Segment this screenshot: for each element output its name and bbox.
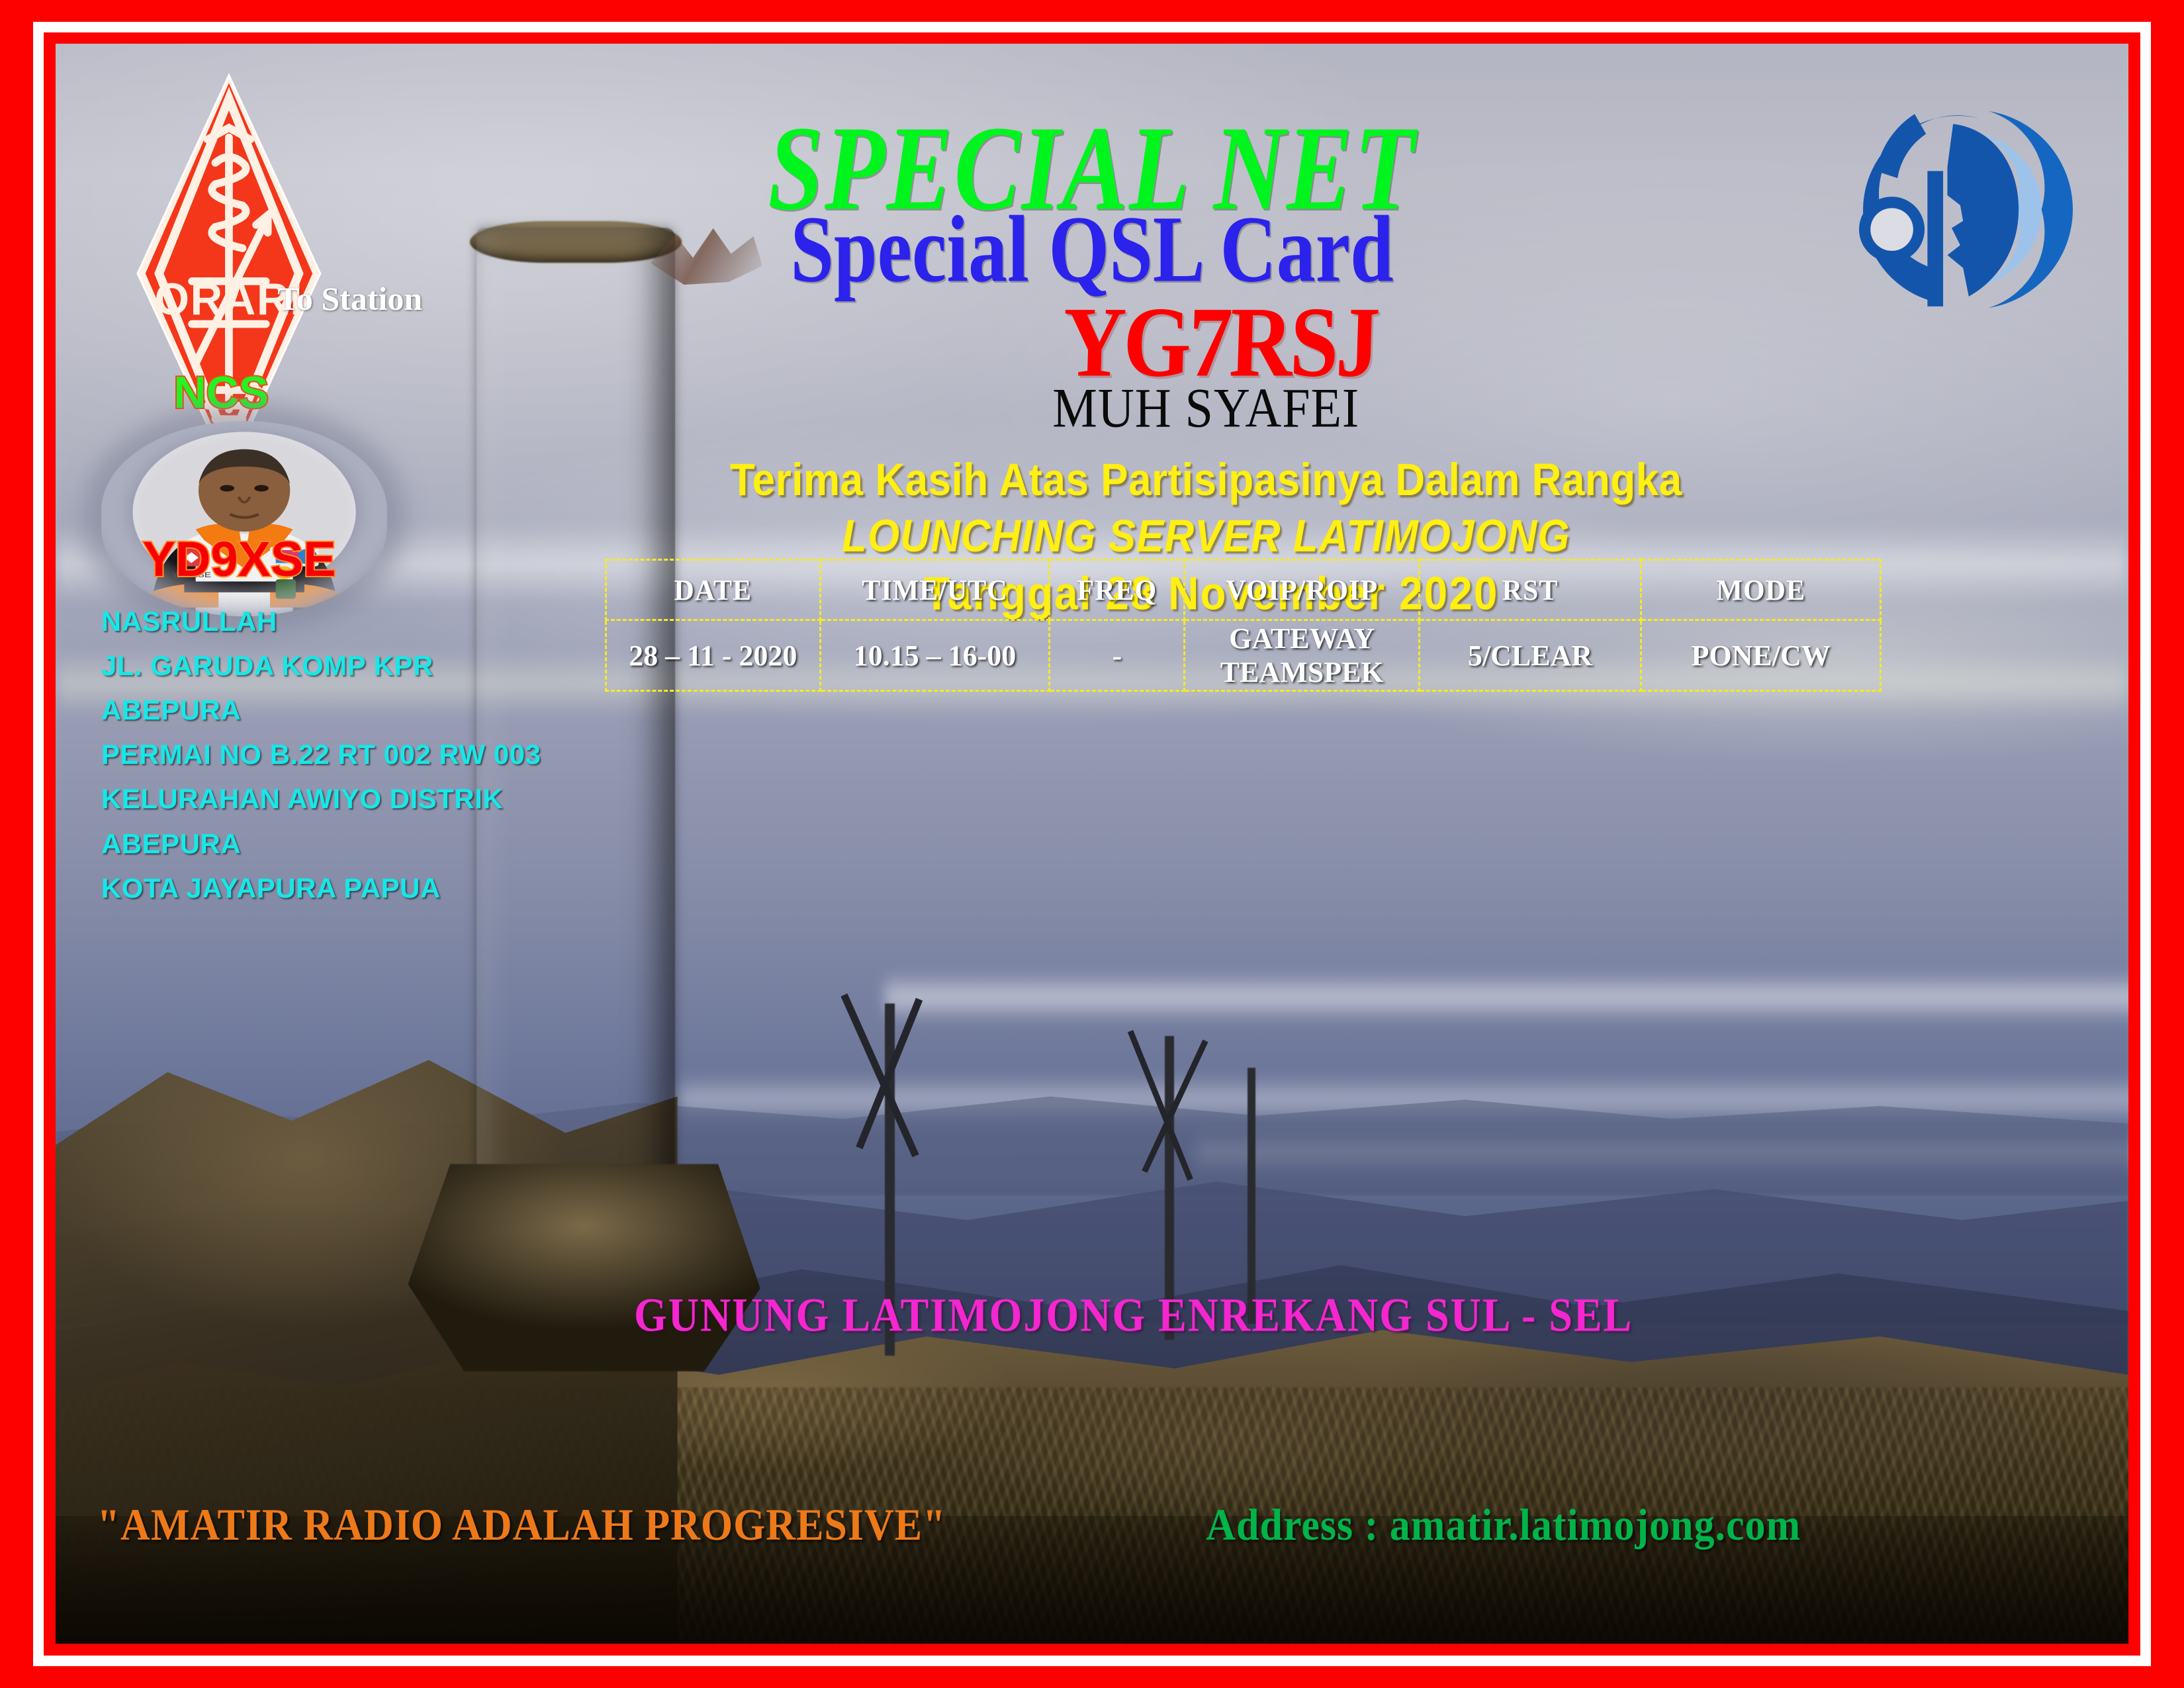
cell-freq: - bbox=[1050, 620, 1185, 691]
qso-details-table: DATE TIME/UTC FREQ VOIP/ROIP RST MODE 28… bbox=[605, 559, 1882, 692]
station-address-block: NASRULLAH JL. GARUDA KOMP KPR ABEPURA PE… bbox=[101, 599, 541, 910]
column-header-voip-roip: VOIP/ROIP bbox=[1185, 558, 1419, 622]
cell-time: 10.15 – 16-00 bbox=[820, 620, 1050, 691]
cell-mode: PONE/CW bbox=[1641, 620, 1881, 691]
web-address-text: Address : amatir.latimojong.com bbox=[1206, 1503, 1801, 1548]
table-row: 28 – 11 - 2020 10.15 – 16-00 - GATEWAY T… bbox=[606, 620, 1880, 691]
location-line: GUNUNG LATIMOJONG ENREKANG SUL - SEL bbox=[56, 1291, 2128, 1339]
cell-voip-roip-line2: TEAMSPEK bbox=[1186, 655, 1417, 689]
address-line: ABEPURA bbox=[101, 821, 541, 866]
background-photo: ORARI NCS bbox=[56, 44, 2128, 1644]
address-line: JL. GARUDA KOMP KPR bbox=[101, 643, 541, 688]
address-line: PERMAI NO B.22 RT 002 RW 003 bbox=[101, 732, 541, 776]
address-line: KOTA JAYAPURA PAPUA bbox=[101, 866, 541, 910]
address-line: KELURAHAN AWIYO DISTRIK bbox=[101, 776, 541, 821]
recipient-operator-name: MUH SYAFEI bbox=[56, 380, 2128, 436]
cell-voip-roip: GATEWAY TEAMSPEK bbox=[1185, 620, 1419, 691]
bare-tree bbox=[1248, 1068, 1256, 1324]
cell-date: 28 – 11 - 2020 bbox=[606, 620, 820, 691]
column-header-rst: RST bbox=[1419, 558, 1641, 622]
qsl-card: ORARI NCS bbox=[0, 0, 2184, 1688]
address-line: ABEPURA bbox=[101, 688, 541, 732]
column-header-date: DATE bbox=[606, 558, 820, 622]
event-line: LOUNCHING SERVER LATIMOJONG bbox=[56, 514, 2128, 559]
thanks-line: Terima Kasih Atas Partisipasinya Dalam R… bbox=[56, 458, 2128, 503]
column-header-freq: FREQ bbox=[1050, 558, 1185, 622]
column-header-time: TIME/UTC bbox=[820, 558, 1050, 622]
cell-voip-roip-line1: GATEWAY bbox=[1186, 622, 1417, 655]
table-header-row: DATE TIME/UTC FREQ VOIP/ROIP RST MODE bbox=[606, 560, 1880, 620]
cell-rst: 5/CLEAR bbox=[1419, 620, 1641, 691]
column-header-mode: MODE bbox=[1641, 558, 1881, 622]
motto-text: "AMATIR RADIO ADALAH PROGRESIVE" bbox=[97, 1503, 946, 1548]
cloud-band bbox=[885, 972, 2128, 1023]
